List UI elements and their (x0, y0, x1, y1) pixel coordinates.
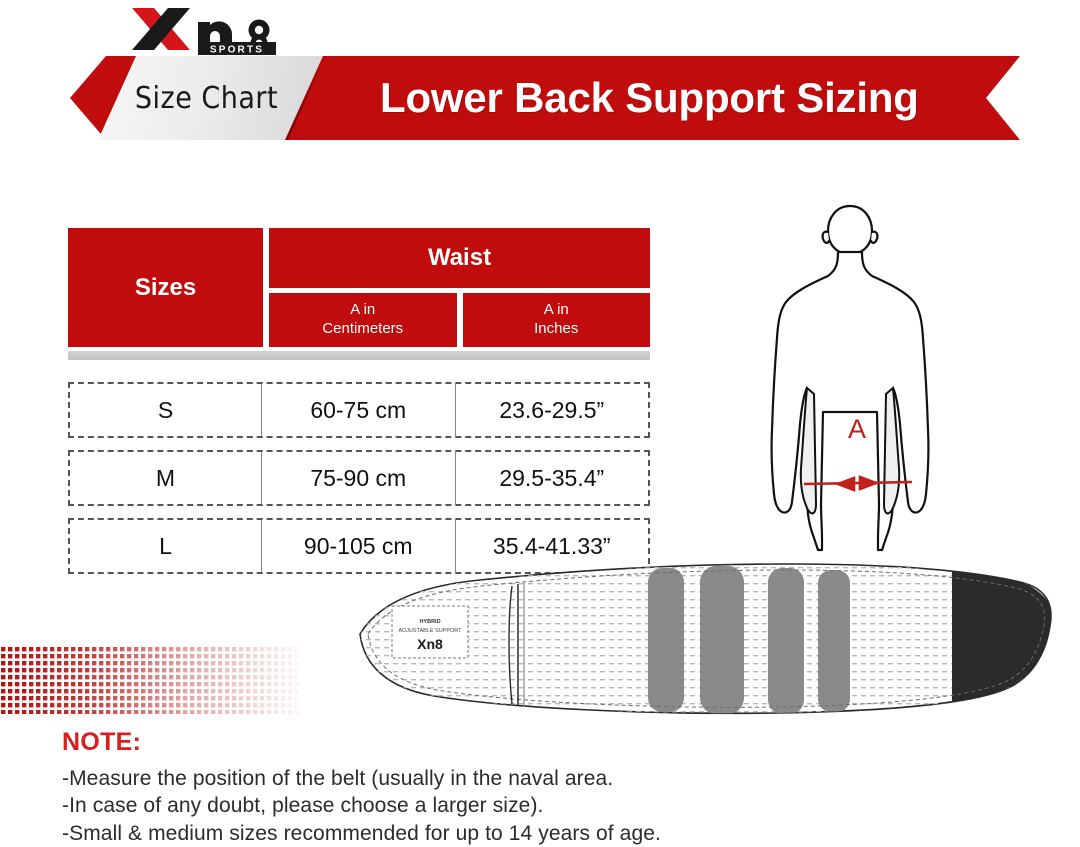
size-table: Sizes Waist A in Centimeters A in Inches (68, 228, 650, 586)
body-diagram: A (760, 198, 985, 588)
cell-inches: 29.5-35.4” (456, 452, 649, 504)
measure-label-a: A (848, 414, 866, 444)
note-line: -In case of any doubt, please choose a l… (62, 792, 822, 819)
header-banner: Size Chart Lower Back Support Sizing (70, 56, 1020, 140)
size-chart-tab-label: Size Chart (135, 81, 278, 116)
belt-tag-line2: ADJUSTABLE SUPPORT (398, 628, 462, 634)
xn8-sports-logo-icon: SPORTS (128, 4, 308, 56)
belt-tag: HYBRID ADJUSTABLE SUPPORT Xn8 (392, 606, 468, 658)
table-header: Sizes Waist A in Centimeters A in Inches (68, 228, 650, 347)
cell-size: L (70, 520, 262, 572)
cell-size: M (70, 452, 262, 504)
column-header-inches: A in Inches (463, 293, 651, 347)
cm-header-line2: Centimeters (322, 320, 403, 339)
cell-inches: 23.6-29.5” (456, 384, 649, 436)
halftone-decoration (0, 646, 300, 714)
table-row: S 60-75 cm 23.6-29.5” (68, 382, 650, 438)
note-line: -Small & medium sizes recommended for up… (62, 820, 822, 847)
cm-header-line1: A in (350, 301, 375, 320)
table-body: S 60-75 cm 23.6-29.5” M 75-90 cm 29.5-35… (68, 382, 650, 574)
size-chart-page: SPORTS Size Chart Lower Back Support Siz… (0, 0, 1080, 845)
column-header-centimeters: A in Centimeters (269, 293, 457, 347)
belt-tag-logo: Xn8 (417, 636, 443, 652)
svg-text:SPORTS: SPORTS (210, 44, 264, 55)
table-row: M 75-90 cm 29.5-35.4” (68, 450, 650, 506)
waist-header-group: Waist A in Centimeters A in Inches (269, 228, 650, 347)
page-title: Lower Back Support Sizing (380, 56, 980, 140)
belt-tag-line1: HYBRID (419, 619, 440, 625)
belt-illustration: HYBRID ADJUSTABLE SUPPORT Xn8 (348, 556, 1058, 721)
column-header-sizes: Sizes (68, 228, 263, 347)
in-header-line1: A in (544, 301, 569, 320)
note-title: NOTE: (62, 728, 822, 757)
cell-centimeters: 60-75 cm (262, 384, 456, 436)
waist-subheaders: A in Centimeters A in Inches (269, 293, 650, 347)
size-chart-tab: Size Chart (98, 56, 323, 140)
in-header-line2: Inches (534, 320, 578, 339)
header-divider-bar (68, 351, 650, 360)
column-header-waist: Waist (269, 228, 650, 288)
note-line: -Measure the position of the belt (usual… (62, 765, 822, 792)
cell-centimeters: 75-90 cm (262, 452, 456, 504)
note-section: NOTE: -Measure the position of the belt … (62, 728, 822, 847)
cell-size: S (70, 384, 262, 436)
